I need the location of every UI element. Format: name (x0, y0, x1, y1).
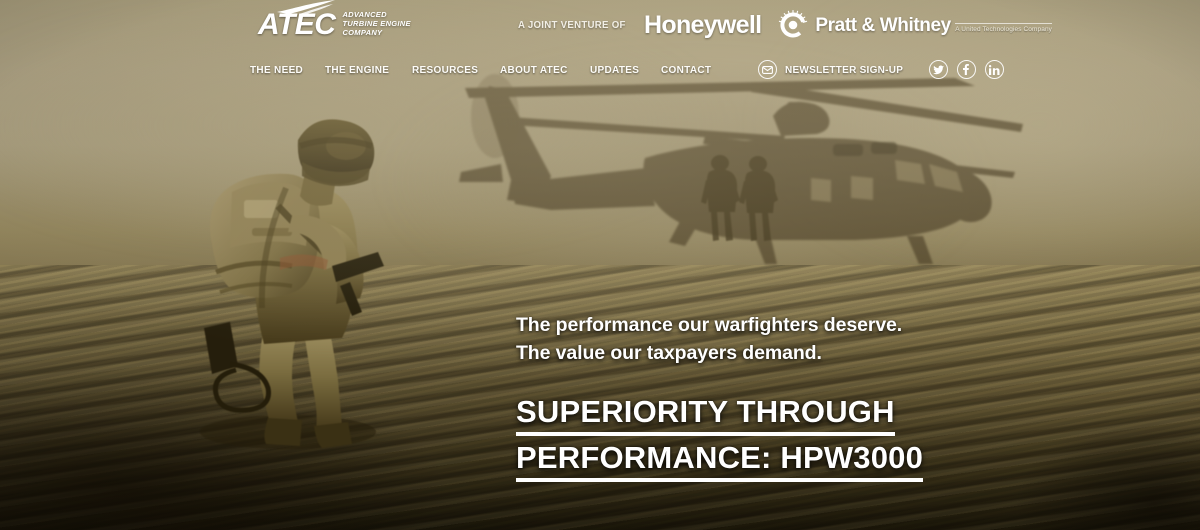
atec-tagline-line-1: ADVANCED (342, 10, 386, 19)
envelope-icon (758, 60, 777, 79)
hero-headline-line-1-text: SUPERIORITY THROUGH (516, 394, 895, 436)
pratt-whitney-eagle-icon (778, 10, 808, 40)
hero-headline-line-1: SUPERIORITY THROUGH (516, 389, 1156, 434)
pratt-whitney-logo: Pratt & Whitney A United Technologies Co… (778, 10, 1052, 40)
nav-item-contact[interactable]: CONTACT (661, 64, 711, 76)
hero-headline-line-2-text: PERFORMANCE: HPW3000 (516, 440, 923, 482)
newsletter-signup-label: NEWSLETTER SIGN-UP (785, 64, 903, 76)
hero-copy-block: The performance our warfighters deserve.… (516, 312, 1156, 480)
honeywell-logo: Honeywell (644, 13, 761, 38)
nav-item-the-need[interactable]: THE NEED (250, 64, 303, 76)
joint-venture-label: A JOINT VENTURE OF (518, 19, 626, 31)
twitter-link[interactable] (929, 60, 948, 79)
hero-banner: ATEC ADVANCED TURBINE ENGINE COMPANY A J… (0, 0, 1200, 530)
nav-item-the-engine[interactable]: THE ENGINE (325, 64, 389, 76)
atec-logo-tagline: ADVANCED TURBINE ENGINE COMPANY (342, 10, 410, 40)
primary-navigation: THE NEED THE ENGINE RESOURCES ABOUT ATEC… (250, 64, 714, 76)
atec-wordmark: ATEC (258, 10, 335, 40)
atec-tagline-line-3: COMPANY (342, 28, 382, 37)
facebook-icon (963, 64, 969, 75)
social-links (929, 60, 1004, 79)
pratt-whitney-name: Pratt & Whitney (815, 15, 950, 36)
linkedin-link[interactable] (985, 60, 1004, 79)
hero-kicker-line-2: The value our taxpayers demand. (516, 340, 1156, 368)
nav-item-updates[interactable]: UPDATES (590, 64, 639, 76)
distant-soldiers-silhouette (690, 150, 800, 260)
site-header: ATEC ADVANCED TURBINE ENGINE COMPANY A J… (0, 0, 1200, 8)
hero-kicker-line-1: The performance our warfighters deserve. (516, 312, 1156, 340)
hero-kicker: The performance our warfighters deserve.… (516, 312, 1156, 367)
twitter-icon (933, 65, 944, 75)
primary-navigation-row: THE NEED THE ENGINE RESOURCES ABOUT ATEC… (250, 60, 1200, 79)
utility-navigation: NEWSLETTER SIGN-UP (758, 60, 1003, 79)
linkedin-icon (989, 65, 1000, 75)
pratt-whitney-tagline: A United Technologies Company (955, 23, 1052, 33)
atec-logo[interactable]: ATEC ADVANCED TURBINE ENGINE COMPANY (258, 10, 411, 40)
facebook-link[interactable] (957, 60, 976, 79)
atec-tagline-line-2: TURBINE ENGINE (342, 19, 410, 28)
newsletter-signup-link[interactable]: NEWSLETTER SIGN-UP (758, 60, 909, 79)
nav-item-resources[interactable]: RESOURCES (412, 64, 478, 76)
nav-item-about-atec[interactable]: ABOUT ATEC (500, 64, 568, 76)
pratt-whitney-text: Pratt & Whitney A United Technologies Co… (815, 16, 1052, 35)
hero-headline: SUPERIORITY THROUGH PERFORMANCE: HPW3000 (516, 389, 1156, 480)
atec-swoosh-icon (275, 0, 339, 15)
hero-headline-line-2: PERFORMANCE: HPW3000 (516, 435, 1156, 480)
joint-venture-lockup: A JOINT VENTURE OF Honeywell (518, 10, 1052, 40)
foreground-soldier (168, 96, 458, 456)
